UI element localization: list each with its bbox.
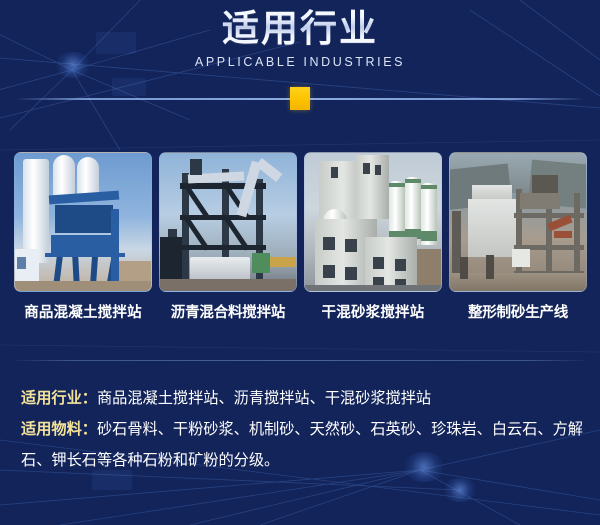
page-title: 适用行业 — [0, 0, 600, 49]
info-value-industries: 商品混凝土搅拌站、沥青搅拌站、干混砂浆搅拌站 — [97, 390, 431, 407]
section-divider — [12, 360, 588, 361]
info-label-materials: 适用物料： — [21, 421, 97, 438]
concrete-batching-plant-photo — [14, 152, 152, 292]
industry-card-caption: 整形制砂生产线 — [449, 301, 587, 322]
info-label-industries: 适用行业： — [21, 390, 97, 407]
industry-card[interactable]: 商品混凝土搅拌站 — [14, 152, 152, 322]
industry-card[interactable]: 沥青混合料搅拌站 — [159, 152, 297, 322]
asphalt-mixing-plant-photo — [159, 152, 297, 292]
info-block: 适用行业：商品混凝土搅拌站、沥青搅拌站、干混砂浆搅拌站 适用物料：砂石骨料、干粉… — [21, 383, 583, 476]
industry-card[interactable]: 干混砂浆搅拌站 — [304, 152, 442, 322]
industry-card[interactable]: 整形制砂生产线 — [449, 152, 587, 322]
info-value-materials: 砂石骨料、干粉砂浆、机制砂、天然砂、石英砂、珍珠岩、白云石、方解石、钾长石等各种… — [21, 421, 583, 469]
banner-header: 适用行业 APPLICABLE INDUSTRIES — [0, 0, 600, 69]
dry-mix-mortar-plant-photo — [304, 152, 442, 292]
applicable-industries-banner: 适用行业 APPLICABLE INDUSTRIES — [0, 0, 600, 525]
network-plate — [112, 78, 146, 96]
industry-card-caption: 商品混凝土搅拌站 — [14, 301, 152, 322]
industry-card-caption: 沥青混合料搅拌站 — [159, 301, 297, 322]
sand-making-production-line-photo — [449, 152, 587, 292]
divider-accent-square — [290, 87, 310, 110]
info-row-industries: 适用行业：商品混凝土搅拌站、沥青搅拌站、干混砂浆搅拌站 — [21, 383, 583, 414]
industry-card-list: 商品混凝土搅拌站 — [14, 152, 586, 322]
industry-card-caption: 干混砂浆搅拌站 — [304, 301, 442, 322]
header-divider — [18, 97, 582, 100]
info-row-materials: 适用物料：砂石骨料、干粉砂浆、机制砂、天然砂、石英砂、珍珠岩、白云石、方解石、钾… — [21, 414, 583, 476]
network-node-glow — [442, 478, 478, 502]
page-subtitle: APPLICABLE INDUSTRIES — [0, 55, 600, 69]
